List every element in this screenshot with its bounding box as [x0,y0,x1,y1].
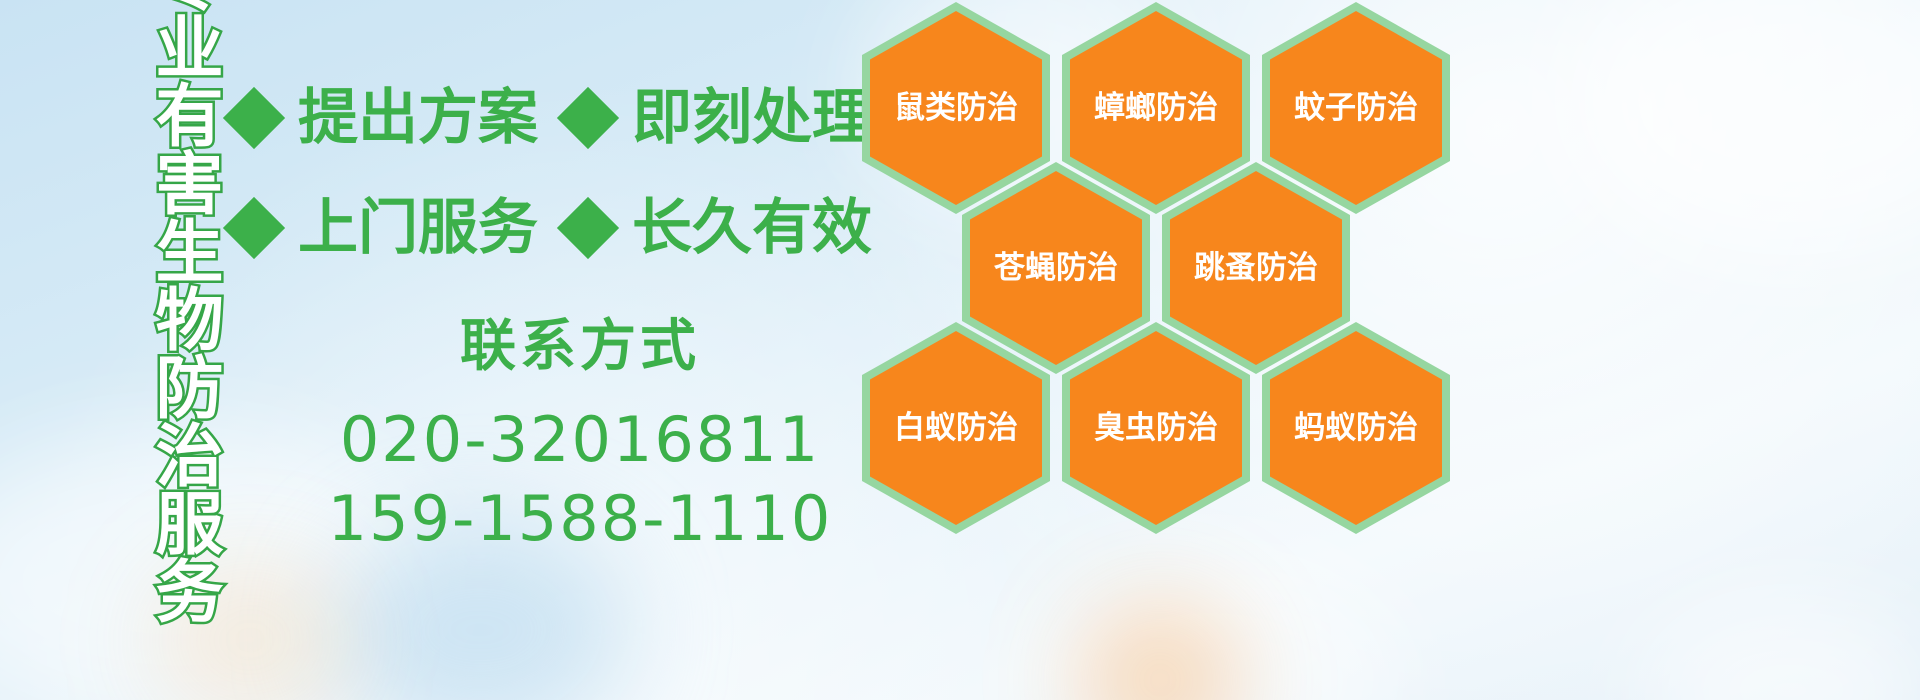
diamond-bullet-icon [223,87,285,149]
diamond-bullet-icon [557,197,619,259]
service-hex-label: 蟑螂防治 [1094,93,1218,124]
diamond-bullet-icon [223,197,285,259]
hex-inner: 跳蚤防治 [1170,171,1342,365]
service-hex-label: 蚂蚁防治 [1294,413,1418,444]
feature-label-propose-plan: 提出方案 [298,88,538,148]
service-hex-label: 苍蝇防治 [994,253,1118,284]
hex-inner: 蚊子防治 [1270,11,1442,205]
diamond-bullet-icon [557,87,619,149]
service-hex-label: 跳蚤防治 [1194,253,1318,284]
hex-inner: 苍蝇防治 [970,171,1142,365]
feature-label-onsite-service: 上门服务 [298,198,538,258]
hex-inner: 白蚁防治 [870,331,1042,525]
phone-landline[interactable]: 020-32016811 [300,400,860,479]
service-hex-label: 白蚁防治 [894,413,1018,444]
background-blob [1560,0,1920,260]
contact-block: 联系方式 020-32016811 159-1588-1110 [300,316,860,558]
vertical-headline: 专业有害生物防治服务 [104,8,216,560]
hex-inner: 鼠类防治 [870,11,1042,205]
banner-root: 专业有害生物防治服务 提出方案 即刻处理 上门服务 长久有效 联系方式 020-… [0,0,1920,700]
service-honeycomb: 鼠类防治 蟑螂防治 蚊子防治 苍蝇防治 跳蚤防治 白蚁防治 [862,0,1462,700]
contact-title: 联系方式 [300,316,860,378]
feature-row-2: 上门服务 长久有效 [232,198,872,258]
hex-inner: 蟑螂防治 [1070,11,1242,205]
phone-mobile[interactable]: 159-1588-1110 [300,479,860,558]
hex-inner: 臭虫防治 [1070,331,1242,525]
service-hex-label: 鼠类防治 [894,93,1018,124]
service-hex-label: 臭虫防治 [1094,413,1218,444]
feature-row-1: 提出方案 即刻处理 [232,88,872,148]
hex-inner: 蚂蚁防治 [1270,331,1442,525]
feature-label-long-lasting: 长久有效 [632,198,872,258]
feature-label-immediate-handling: 即刻处理 [632,88,872,148]
background-blob [1640,600,1920,700]
service-hex-label: 蚊子防治 [1294,93,1418,124]
